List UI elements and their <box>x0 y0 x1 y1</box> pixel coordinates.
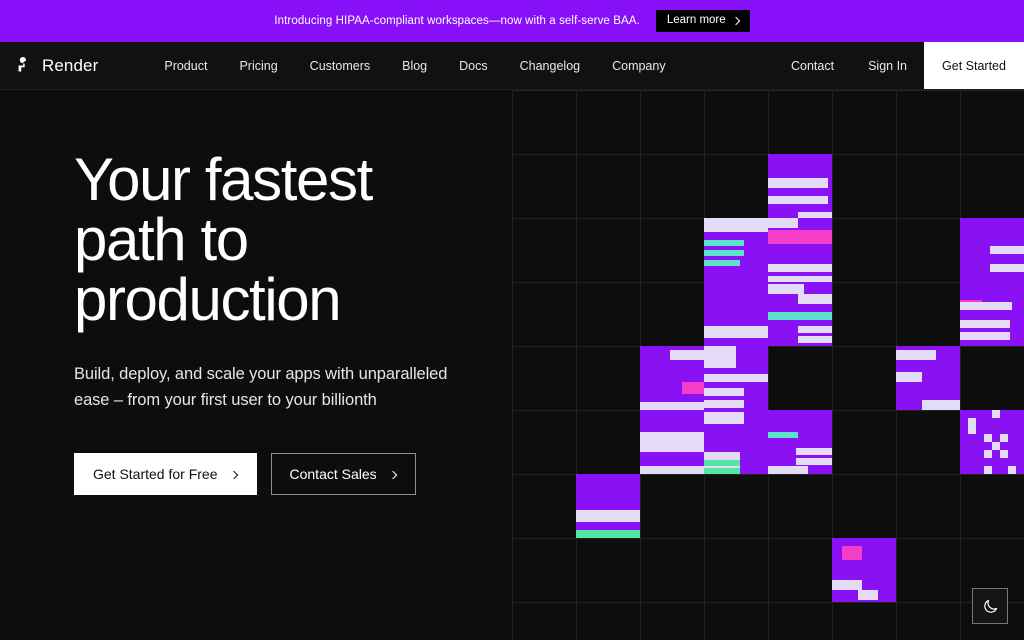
pixel-cell <box>768 410 832 474</box>
nav-link-product[interactable]: Product <box>148 42 223 90</box>
nav-right-group: Contact Sign In Get Started <box>774 42 1024 89</box>
pixel-block <box>1008 466 1016 474</box>
grid-line-vertical <box>576 90 577 640</box>
pixel-stripe <box>768 230 832 244</box>
pixel-cell <box>960 218 1024 282</box>
moon-icon <box>982 598 999 615</box>
pixel-cell <box>832 538 896 602</box>
pixel-block <box>984 450 992 458</box>
announcement-text: Introducing HIPAA-compliant workspaces—n… <box>274 15 640 27</box>
pixel-stripe <box>768 196 828 204</box>
pixel-stripe <box>576 530 640 538</box>
pixel-stripe <box>990 246 1024 254</box>
nav-link-sign-in[interactable]: Sign In <box>851 42 924 89</box>
announcement-banner: Introducing HIPAA-compliant workspaces—n… <box>0 0 1024 42</box>
pixel-stripe <box>704 218 768 232</box>
chevron-right-icon <box>390 471 397 478</box>
pixel-stripe <box>858 590 878 600</box>
nav-link-docs[interactable]: Docs <box>443 42 503 90</box>
pixel-stripe <box>960 302 1012 310</box>
render-logo-icon <box>16 57 33 74</box>
hero-heading: Your fastest path to production <box>74 150 544 330</box>
pixel-block <box>1000 434 1008 442</box>
pixel-stripe <box>704 346 736 368</box>
pixel-stripe <box>704 460 740 466</box>
pixel-stripe <box>768 264 832 272</box>
get-started-for-free-label: Get Started for Free <box>93 467 218 481</box>
chevron-right-icon <box>231 471 238 478</box>
pixel-stripe <box>922 400 960 410</box>
brand-logo[interactable]: Render <box>0 42 98 89</box>
pixel-stripe <box>796 458 832 465</box>
render-landing-page: Introducing HIPAA-compliant workspaces—n… <box>0 0 1024 640</box>
grid-line-vertical <box>960 90 961 640</box>
pixel-cell <box>960 410 1024 474</box>
pixel-stripe <box>960 332 1010 340</box>
pixel-stripe <box>798 294 832 304</box>
pixel-stripe <box>796 448 832 455</box>
get-started-for-free-button[interactable]: Get Started for Free <box>74 453 257 495</box>
pixel-stripe <box>704 468 740 474</box>
pixel-cell <box>768 282 832 346</box>
pixel-stripe <box>704 388 744 396</box>
pixel-stripe <box>768 284 804 294</box>
pixel-cell <box>896 346 960 410</box>
pixel-stripe <box>704 326 768 338</box>
pixel-stripe <box>768 466 808 474</box>
pixel-cell <box>576 474 640 538</box>
hero-heading-line-1: Your fastest <box>74 150 544 210</box>
pixel-cell <box>640 346 704 410</box>
pixel-stripe <box>768 312 832 320</box>
pixel-stripe <box>640 466 704 474</box>
pixel-stripe <box>960 320 1010 328</box>
pixel-stripe <box>896 372 922 382</box>
pixel-stripe <box>768 178 828 188</box>
nav-link-blog[interactable]: Blog <box>386 42 443 90</box>
main-navigation: Render Product Pricing Customers Blog Do… <box>0 42 1024 90</box>
pixel-stripe <box>768 218 798 228</box>
pixel-block <box>992 410 1000 418</box>
pixel-cell <box>640 410 704 474</box>
grid-line-horizontal <box>512 90 1024 91</box>
nav-link-contact[interactable]: Contact <box>774 42 851 89</box>
nav-link-changelog[interactable]: Changelog <box>504 42 596 90</box>
pixel-cell <box>704 282 768 346</box>
pixel-block <box>968 426 976 434</box>
brand-name: Render <box>42 56 98 76</box>
pixel-stripe <box>704 260 740 266</box>
pixel-cell <box>704 218 768 282</box>
pixel-cell <box>960 282 1024 346</box>
pixel-stripe <box>832 580 862 590</box>
nav-link-pricing[interactable]: Pricing <box>223 42 293 90</box>
nav-links: Product Pricing Customers Blog Docs Chan… <box>148 42 681 89</box>
contact-sales-label: Contact Sales <box>290 467 377 481</box>
nav-link-customers[interactable]: Customers <box>294 42 386 90</box>
hero-heading-line-3: production <box>74 270 544 330</box>
pixel-stripe <box>704 374 768 382</box>
pixel-cell <box>704 410 768 474</box>
pixel-stripe <box>640 402 704 410</box>
grid-line-vertical <box>512 90 513 640</box>
hero-cta-group: Get Started for Free Contact Sales <box>74 453 544 495</box>
pixel-cell <box>768 154 832 218</box>
pixel-block <box>1000 450 1008 458</box>
pixel-stripe <box>682 382 704 394</box>
get-started-button[interactable]: Get Started <box>924 42 1024 89</box>
hero-heading-line-2: path to <box>74 210 544 270</box>
nav-link-company[interactable]: Company <box>596 42 682 90</box>
pixel-stripe <box>798 336 832 343</box>
pixel-cell <box>768 218 832 282</box>
hero-section: Your fastest path to production Build, d… <box>74 150 544 495</box>
pixel-stripe <box>896 350 936 360</box>
grid-line-horizontal <box>512 538 1024 539</box>
dark-mode-toggle[interactable] <box>972 588 1008 624</box>
learn-more-label: Learn more <box>667 15 726 27</box>
pixel-stripe <box>842 546 862 560</box>
pixel-stripe <box>704 412 744 424</box>
pixel-block <box>984 466 992 474</box>
pixel-stripe <box>704 250 744 256</box>
pixel-block <box>968 418 976 426</box>
hero-subheading: Build, deploy, and scale your apps with … <box>74 362 474 413</box>
pixel-stripe <box>704 400 744 408</box>
contact-sales-button[interactable]: Contact Sales <box>271 453 416 495</box>
pixel-stripe <box>768 432 798 438</box>
pixel-stripe <box>768 206 832 212</box>
pixel-grid-graphic <box>512 90 1024 640</box>
pixel-block <box>992 442 1000 450</box>
pixel-stripe <box>798 326 832 333</box>
pixel-stripe <box>576 510 640 522</box>
pixel-stripe <box>704 240 744 246</box>
learn-more-button[interactable]: Learn more <box>656 10 750 33</box>
grid-line-horizontal <box>512 602 1024 603</box>
pixel-stripe <box>670 350 704 360</box>
chevron-right-icon <box>733 17 740 24</box>
pixel-block <box>984 434 992 442</box>
pixel-stripe <box>990 264 1024 272</box>
pixel-cell <box>704 346 768 410</box>
pixel-stripe <box>640 432 704 452</box>
